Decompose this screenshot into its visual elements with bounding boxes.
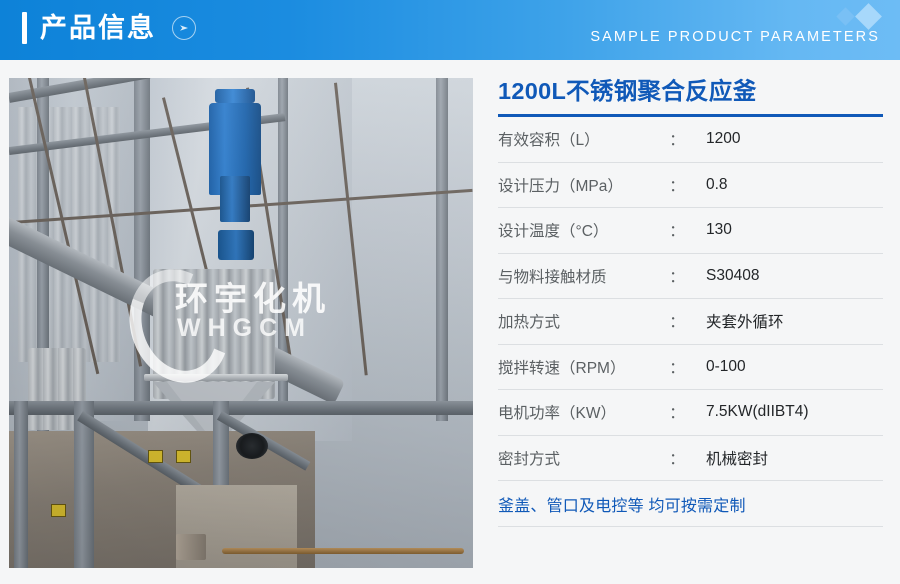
spec-label: 设计压力（MPa） <box>498 174 666 196</box>
spec-colon: ： <box>666 128 688 150</box>
page-title: 产品信息 <box>40 12 156 44</box>
accent-bar-icon <box>22 12 27 44</box>
diamond-decoration <box>839 6 878 26</box>
table-row: 搅拌转速（RPM） ： 0-100 <box>498 345 883 391</box>
product-info-page: 产品信息 SAMPLE PRODUCT PARAMETERS <box>0 0 900 584</box>
play-arrow-circle-icon[interactable] <box>172 16 196 40</box>
spec-value: S30408 <box>688 267 883 285</box>
spec-label: 有效容积（L） <box>498 128 666 150</box>
spec-label: 加热方式 <box>498 310 666 332</box>
spec-label: 电机功率（KW） <box>498 401 666 423</box>
product-photo-image <box>9 78 473 568</box>
spec-panel: 1200L不锈钢聚合反应釜 有效容积（L） ： 1200 设计压力（MPa） ：… <box>498 74 883 584</box>
product-title: 1200L不锈钢聚合反应釜 <box>498 74 883 108</box>
table-row: 有效容积（L） ： 1200 <box>498 117 883 163</box>
header-left-group: 产品信息 <box>22 12 196 44</box>
spec-colon: ： <box>666 310 688 332</box>
spec-value: 机械密封 <box>688 447 883 469</box>
table-row: 密封方式 ： 机械密封 <box>498 436 883 482</box>
diamond-large-icon <box>855 3 882 30</box>
spec-value: 7.5KW(dIIBT4) <box>688 403 883 421</box>
table-row: 设计温度（°C） ： 130 <box>498 208 883 254</box>
header-subtitle: SAMPLE PRODUCT PARAMETERS <box>590 29 880 45</box>
spec-value: 0.8 <box>688 176 883 194</box>
customization-note: 釜盖、管口及电控等 均可按需定制 <box>498 481 883 527</box>
spec-colon: ： <box>666 174 688 196</box>
table-row: 设计压力（MPa） ： 0.8 <box>498 163 883 209</box>
spec-value: 夹套外循环 <box>688 310 883 332</box>
content-area: 环宇化机 WHGCM 1200L不锈钢聚合反应釜 有效容积（L） ： 1200 … <box>0 60 900 584</box>
table-row: 加热方式 ： 夹套外循环 <box>498 299 883 345</box>
spec-value: 0-100 <box>688 358 883 376</box>
spec-colon: ： <box>666 356 688 378</box>
spec-colon: ： <box>666 401 688 423</box>
spec-colon: ： <box>666 219 688 241</box>
page-header: 产品信息 SAMPLE PRODUCT PARAMETERS <box>0 0 900 60</box>
photo-shading-overlay <box>9 78 473 568</box>
table-row: 与物料接触材质 ： S30408 <box>498 254 883 300</box>
spec-value: 130 <box>688 221 883 239</box>
spec-label: 密封方式 <box>498 447 666 469</box>
spec-colon: ： <box>666 447 688 469</box>
table-row: 电机功率（KW） ： 7.5KW(dIIBT4) <box>498 390 883 436</box>
spec-label: 与物料接触材质 <box>498 265 666 287</box>
header-right-group: SAMPLE PRODUCT PARAMETERS <box>590 0 880 60</box>
diamond-small-icon <box>836 7 854 25</box>
spec-table: 有效容积（L） ： 1200 设计压力（MPa） ： 0.8 设计温度（°C） … <box>498 117 883 527</box>
spec-label: 设计温度（°C） <box>498 219 666 241</box>
product-photo: 环宇化机 WHGCM <box>9 78 473 568</box>
spec-colon: ： <box>666 265 688 287</box>
spec-value: 1200 <box>688 130 883 148</box>
spec-label: 搅拌转速（RPM） <box>498 356 666 378</box>
